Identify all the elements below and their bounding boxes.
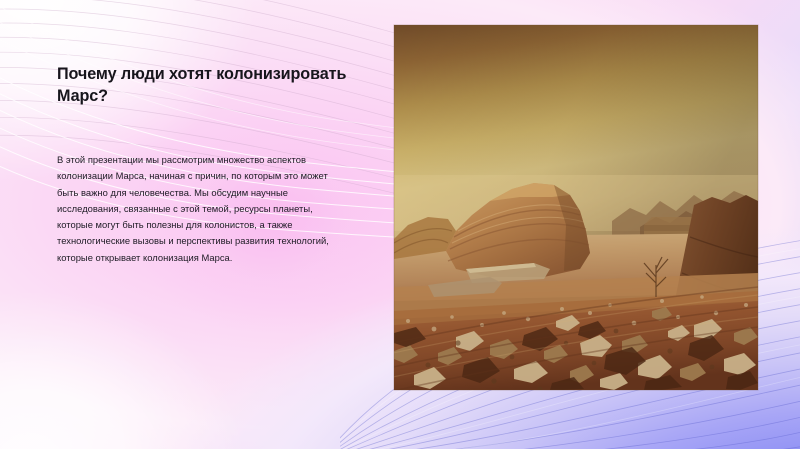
slide-body-text: В этой презентации мы рассмотрим множест… [57, 152, 329, 266]
mars-landscape-illustration [394, 25, 758, 390]
presentation-slide: Почему люди хотят колонизировать Марс? В… [0, 0, 800, 449]
page-title: Почему люди хотят колонизировать Марс? [57, 64, 357, 107]
slide-text-column: Почему люди хотят колонизировать Марс? В… [57, 64, 357, 266]
mars-landscape-photo [394, 25, 758, 390]
